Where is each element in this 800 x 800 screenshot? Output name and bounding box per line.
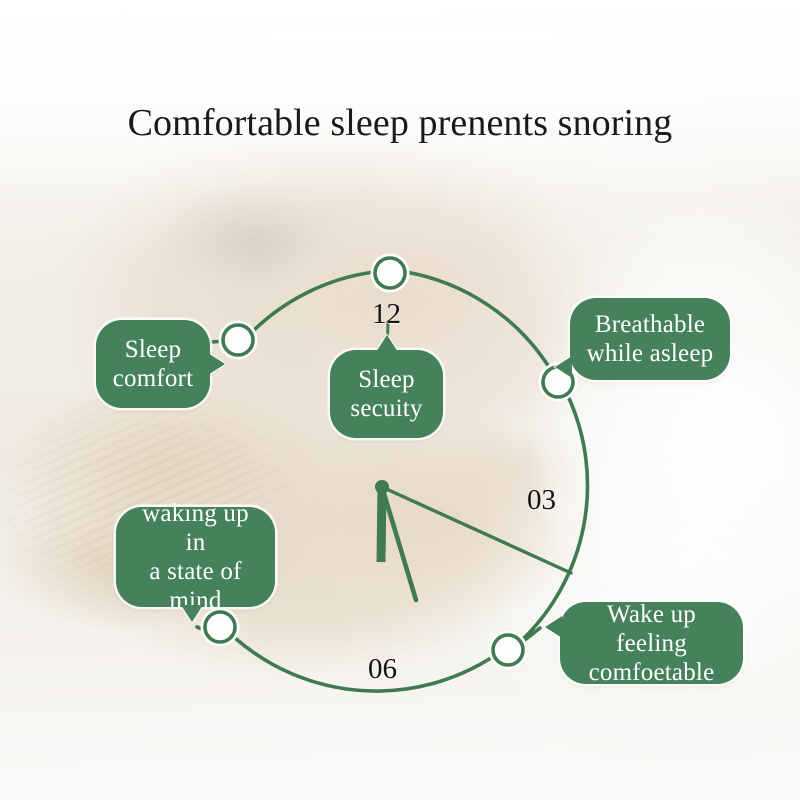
callout-breathable-while-asleep[interactable]: Breathable while asleep: [570, 298, 730, 380]
callout-line-1: Breathable: [587, 310, 714, 339]
clock-node-sleep-comfort[interactable]: [223, 325, 253, 355]
clock-node-wake-up[interactable]: [493, 635, 523, 665]
minute-hand: [382, 487, 416, 600]
clock-pivot: [375, 480, 389, 494]
hour-hand: [381, 487, 382, 562]
clock-numeral-03: 03: [527, 486, 556, 515]
callout-line-1: Sleep: [113, 335, 194, 364]
callout-line-1: waking up in: [132, 499, 259, 557]
callout-line-2: comfort: [113, 364, 194, 393]
clock-node-state-of-mind[interactable]: [205, 612, 235, 642]
callout-line-2: secuity: [350, 394, 422, 423]
callout-line-2: a state of: [132, 557, 259, 586]
callout-text: Wake up feeling comfoetable: [576, 600, 727, 687]
callout-tail-right-icon: [208, 353, 225, 375]
clock-ring: [235, 272, 588, 691]
callout-wake-up-feeling-comfortable[interactable]: Wake up feeling comfoetable: [560, 602, 743, 684]
callout-line-2: while asleep: [587, 339, 714, 368]
callout-text: Sleep secuity: [350, 365, 422, 423]
callout-text: waking up in a state of mind: [132, 499, 259, 615]
callout-tail-left-icon: [555, 356, 572, 378]
clock-numeral-06: 06: [368, 655, 397, 684]
callout-tail-down-icon: [181, 605, 203, 622]
callout-line-1: Wake up feeling: [576, 600, 727, 658]
sleep-infographic-poster: Comfortable sleep prenents snoring: [0, 0, 800, 800]
callout-sleep-security[interactable]: Sleep secuity: [330, 350, 443, 438]
callout-waking-up-state-of-mind[interactable]: waking up in a state of mind: [116, 507, 275, 607]
callout-text: Sleep comfort: [113, 335, 194, 393]
callout-tail-up-icon: [376, 335, 398, 352]
callout-line-1: Sleep: [350, 365, 422, 394]
callout-sleep-comfort[interactable]: Sleep comfort: [96, 320, 210, 408]
callout-line-2: comfoetable: [576, 658, 727, 687]
callout-text: Breathable while asleep: [587, 310, 714, 368]
clock-numeral-12: 12: [372, 300, 401, 329]
callout-tail-left-icon: [545, 616, 562, 638]
clock-node-12[interactable]: [375, 258, 405, 288]
